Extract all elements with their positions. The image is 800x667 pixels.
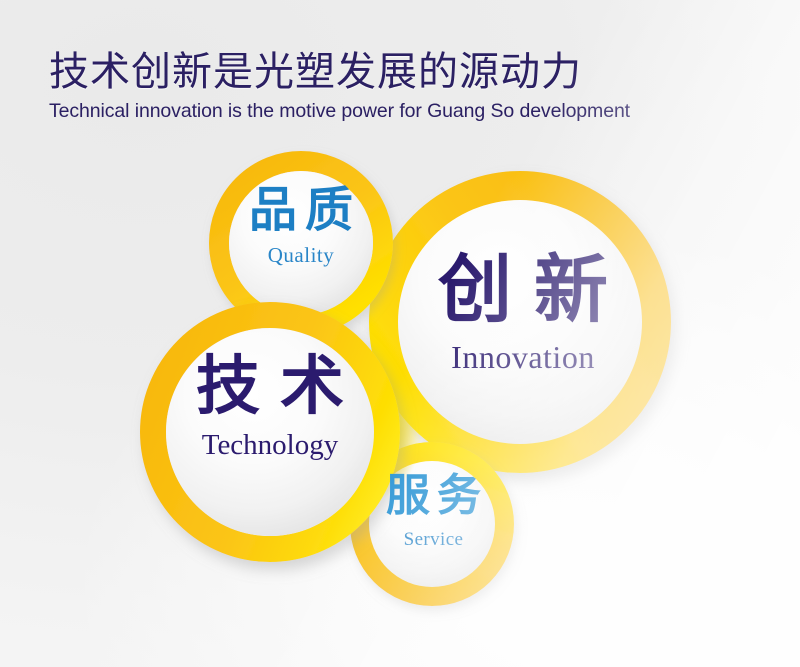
bubble-quality[interactable] (219, 161, 383, 325)
bubble-technology[interactable] (153, 315, 387, 549)
bubble-innovation[interactable] (384, 186, 656, 458)
bubble-fill-quality (229, 171, 373, 315)
venn-ring-diagram: 品质 Quality 创新 Innovation 技术 Technology 服… (0, 0, 800, 667)
ring-diagram-svg (0, 0, 800, 667)
bubble-fill-innovation (398, 200, 642, 444)
bubble-fill-technology (166, 328, 374, 536)
poster-canvas: 技术创新是光塑发展的源动力 Technical innovation is th… (0, 0, 800, 667)
